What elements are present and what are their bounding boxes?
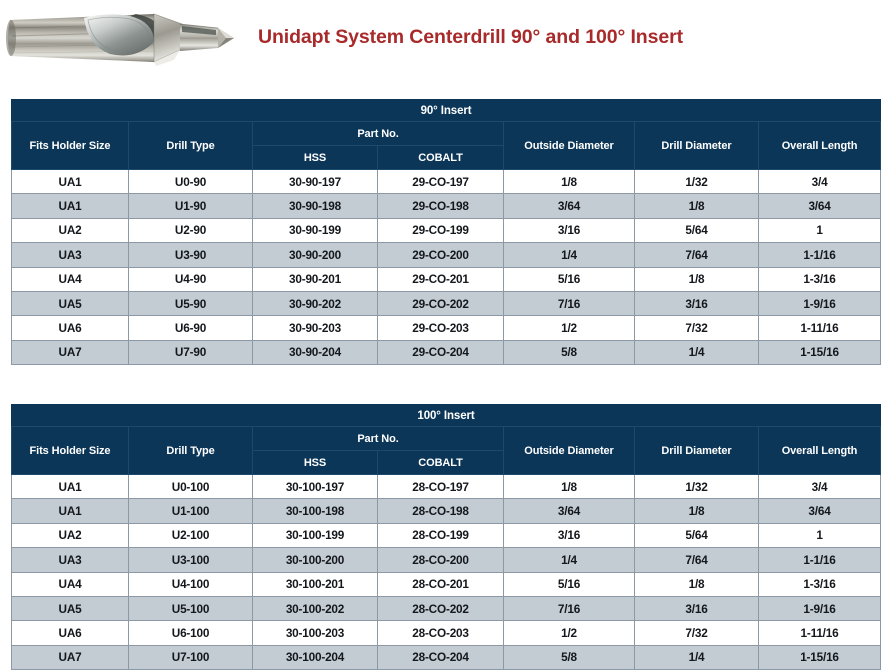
cell-hss: 30-90-200 [253, 243, 378, 267]
cell-outside-diameter: 1/8 [504, 475, 635, 499]
cell-drill-diameter: 5/64 [635, 523, 759, 547]
table-title-insert-100: 100° Insert [12, 405, 881, 427]
column-header-cobalt: COBALT [378, 451, 504, 475]
page-title: Unidapt System Centerdrill 90° and 100° … [258, 26, 683, 49]
cell-outside-diameter: 3/64 [504, 194, 635, 218]
table-row: UA2 U2-90 30-90-199 29-CO-199 3/16 5/64 … [12, 218, 881, 242]
cell-drill-diameter: 1/8 [635, 572, 759, 596]
spec-table-insert-90: 90° Insert Fits Holder Size Drill Type P… [11, 99, 881, 365]
cell-fits-holder-size: UA2 [12, 523, 129, 547]
column-header-drill-type: Drill Type [129, 122, 253, 170]
column-header-cobalt: COBALT [378, 146, 504, 170]
table-group-header-row: Fits Holder Size Drill Type Part No. Out… [12, 122, 881, 146]
table-body-insert-100: UA1 U0-100 30-100-197 28-CO-197 1/8 1/32… [12, 475, 881, 670]
cell-drill-type: U3-90 [129, 243, 253, 267]
cell-overall-length: 1-11/16 [759, 621, 881, 645]
table-title-row: 90° Insert [12, 100, 881, 122]
cell-hss: 30-100-201 [253, 572, 378, 596]
cell-drill-diameter: 1/4 [635, 340, 759, 364]
cell-fits-holder-size: UA5 [12, 596, 129, 620]
cell-drill-type: U5-90 [129, 291, 253, 315]
cell-hss: 30-90-197 [253, 170, 378, 194]
column-header-fits-holder-size: Fits Holder Size [12, 427, 129, 475]
cell-cobalt: 29-CO-199 [378, 218, 504, 242]
column-header-hss: HSS [253, 146, 378, 170]
column-header-fits-holder-size: Fits Holder Size [12, 122, 129, 170]
cell-drill-type: U6-90 [129, 316, 253, 340]
cell-fits-holder-size: UA4 [12, 572, 129, 596]
cell-fits-holder-size: UA1 [12, 475, 129, 499]
cell-drill-type: U7-100 [129, 645, 253, 669]
cell-drill-diameter: 1/8 [635, 194, 759, 218]
cell-overall-length: 3/4 [759, 475, 881, 499]
cell-drill-diameter: 3/16 [635, 596, 759, 620]
cell-overall-length: 1 [759, 218, 881, 242]
cell-hss: 30-90-204 [253, 340, 378, 364]
cell-drill-type: U1-100 [129, 499, 253, 523]
cell-cobalt: 29-CO-202 [378, 291, 504, 315]
column-group-header-part-no: Part No. [253, 122, 504, 146]
table-group-header-row: Fits Holder Size Drill Type Part No. Out… [12, 427, 881, 451]
cell-fits-holder-size: UA4 [12, 267, 129, 291]
cell-drill-type: U4-90 [129, 267, 253, 291]
cell-outside-diameter: 5/16 [504, 572, 635, 596]
cell-drill-type: U7-90 [129, 340, 253, 364]
cell-drill-diameter: 1/32 [635, 170, 759, 194]
cell-overall-length: 3/4 [759, 170, 881, 194]
cell-overall-length: 3/64 [759, 499, 881, 523]
table-row: UA7 U7-90 30-90-204 29-CO-204 5/8 1/4 1-… [12, 340, 881, 364]
cell-fits-holder-size: UA1 [12, 194, 129, 218]
cell-hss: 30-90-203 [253, 316, 378, 340]
cell-overall-length: 3/64 [759, 194, 881, 218]
cell-drill-diameter: 1/32 [635, 475, 759, 499]
cell-hss: 30-90-202 [253, 291, 378, 315]
cell-overall-length: 1-1/16 [759, 243, 881, 267]
table-title-row: 100° Insert [12, 405, 881, 427]
cell-fits-holder-size: UA5 [12, 291, 129, 315]
table-row: UA6 U6-100 30-100-203 28-CO-203 1/2 7/32… [12, 621, 881, 645]
cell-fits-holder-size: UA7 [12, 340, 129, 364]
cell-drill-type: U0-90 [129, 170, 253, 194]
cell-cobalt: 29-CO-198 [378, 194, 504, 218]
table-row: UA5 U5-100 30-100-202 28-CO-202 7/16 3/1… [12, 596, 881, 620]
cell-fits-holder-size: UA1 [12, 499, 129, 523]
cell-drill-diameter: 1/8 [635, 267, 759, 291]
cell-drill-diameter: 7/64 [635, 243, 759, 267]
column-group-header-part-no: Part No. [253, 427, 504, 451]
cell-drill-type: U6-100 [129, 621, 253, 645]
column-header-hss: HSS [253, 451, 378, 475]
cell-outside-diameter: 7/16 [504, 596, 635, 620]
cell-cobalt: 29-CO-197 [378, 170, 504, 194]
cell-drill-type: U0-100 [129, 475, 253, 499]
cell-overall-length: 1-15/16 [759, 645, 881, 669]
cell-outside-diameter: 5/16 [504, 267, 635, 291]
cell-drill-diameter: 7/64 [635, 548, 759, 572]
page-header: Unidapt System Centerdrill 90° and 100° … [0, 0, 890, 88]
cell-fits-holder-size: UA1 [12, 170, 129, 194]
cell-fits-holder-size: UA6 [12, 316, 129, 340]
cell-hss: 30-100-197 [253, 475, 378, 499]
cell-hss: 30-100-198 [253, 499, 378, 523]
cell-overall-length: 1-3/16 [759, 267, 881, 291]
cell-fits-holder-size: UA7 [12, 645, 129, 669]
cell-overall-length: 1-3/16 [759, 572, 881, 596]
cell-outside-diameter: 1/4 [504, 243, 635, 267]
cell-drill-diameter: 5/64 [635, 218, 759, 242]
table-row: UA3 U3-100 30-100-200 28-CO-200 1/4 7/64… [12, 548, 881, 572]
table-row: UA7 U7-100 30-100-204 28-CO-204 5/8 1/4 … [12, 645, 881, 669]
cell-drill-type: U2-100 [129, 523, 253, 547]
column-header-drill-diameter: Drill Diameter [635, 122, 759, 170]
table-body-insert-90: UA1 U0-90 30-90-197 29-CO-197 1/8 1/32 3… [12, 170, 881, 365]
cell-hss: 30-90-198 [253, 194, 378, 218]
cell-hss: 30-100-202 [253, 596, 378, 620]
cell-cobalt: 28-CO-202 [378, 596, 504, 620]
cell-cobalt: 28-CO-197 [378, 475, 504, 499]
spec-table-insert-100: 100° Insert Fits Holder Size Drill Type … [11, 404, 881, 670]
cell-cobalt: 29-CO-203 [378, 316, 504, 340]
cell-hss: 30-90-199 [253, 218, 378, 242]
cell-cobalt: 28-CO-201 [378, 572, 504, 596]
cell-overall-length: 1-9/16 [759, 291, 881, 315]
table-row: UA4 U4-100 30-100-201 28-CO-201 5/16 1/8… [12, 572, 881, 596]
cell-fits-holder-size: UA2 [12, 218, 129, 242]
cell-drill-type: U1-90 [129, 194, 253, 218]
cell-outside-diameter: 1/8 [504, 170, 635, 194]
column-header-overall-length: Overall Length [759, 427, 881, 475]
table-row: UA6 U6-90 30-90-203 29-CO-203 1/2 7/32 1… [12, 316, 881, 340]
cell-overall-length: 1-1/16 [759, 548, 881, 572]
cell-drill-diameter: 7/32 [635, 316, 759, 340]
cell-drill-type: U3-100 [129, 548, 253, 572]
cell-overall-length: 1-9/16 [759, 596, 881, 620]
cell-drill-diameter: 1/4 [635, 645, 759, 669]
table-row: UA1 U1-90 30-90-198 29-CO-198 3/64 1/8 3… [12, 194, 881, 218]
cell-outside-diameter: 1/4 [504, 548, 635, 572]
cell-outside-diameter: 5/8 [504, 645, 635, 669]
cell-outside-diameter: 1/2 [504, 621, 635, 645]
centerdrill-product-photo [4, 4, 236, 72]
cell-cobalt: 28-CO-200 [378, 548, 504, 572]
cell-cobalt: 29-CO-201 [378, 267, 504, 291]
cell-outside-diameter: 3/64 [504, 499, 635, 523]
cell-hss: 30-90-201 [253, 267, 378, 291]
cell-hss: 30-100-204 [253, 645, 378, 669]
cell-drill-diameter: 3/16 [635, 291, 759, 315]
cell-overall-length: 1 [759, 523, 881, 547]
column-header-drill-diameter: Drill Diameter [635, 427, 759, 475]
cell-cobalt: 29-CO-200 [378, 243, 504, 267]
table-row: UA1 U1-100 30-100-198 28-CO-198 3/64 1/8… [12, 499, 881, 523]
table-row: UA2 U2-100 30-100-199 28-CO-199 3/16 5/6… [12, 523, 881, 547]
cell-drill-diameter: 7/32 [635, 621, 759, 645]
column-header-overall-length: Overall Length [759, 122, 881, 170]
cell-fits-holder-size: UA6 [12, 621, 129, 645]
cell-outside-diameter: 7/16 [504, 291, 635, 315]
cell-cobalt: 28-CO-203 [378, 621, 504, 645]
cell-drill-type: U5-100 [129, 596, 253, 620]
cell-outside-diameter: 3/16 [504, 218, 635, 242]
column-header-drill-type: Drill Type [129, 427, 253, 475]
cell-cobalt: 28-CO-199 [378, 523, 504, 547]
table-title-insert-90: 90° Insert [12, 100, 881, 122]
table-row: UA4 U4-90 30-90-201 29-CO-201 5/16 1/8 1… [12, 267, 881, 291]
cell-overall-length: 1-11/16 [759, 316, 881, 340]
cell-cobalt: 28-CO-204 [378, 645, 504, 669]
cell-cobalt: 28-CO-198 [378, 499, 504, 523]
cell-drill-type: U2-90 [129, 218, 253, 242]
table-row: UA5 U5-90 30-90-202 29-CO-202 7/16 3/16 … [12, 291, 881, 315]
cell-hss: 30-100-203 [253, 621, 378, 645]
cell-drill-diameter: 1/8 [635, 499, 759, 523]
table-row: UA1 U0-90 30-90-197 29-CO-197 1/8 1/32 3… [12, 170, 881, 194]
table-row: UA1 U0-100 30-100-197 28-CO-197 1/8 1/32… [12, 475, 881, 499]
column-header-outside-diameter: Outside Diameter [504, 122, 635, 170]
cell-hss: 30-100-199 [253, 523, 378, 547]
table-row: UA3 U3-90 30-90-200 29-CO-200 1/4 7/64 1… [12, 243, 881, 267]
cell-outside-diameter: 3/16 [504, 523, 635, 547]
column-header-outside-diameter: Outside Diameter [504, 427, 635, 475]
cell-fits-holder-size: UA3 [12, 243, 129, 267]
cell-fits-holder-size: UA3 [12, 548, 129, 572]
cell-hss: 30-100-200 [253, 548, 378, 572]
cell-overall-length: 1-15/16 [759, 340, 881, 364]
cell-outside-diameter: 5/8 [504, 340, 635, 364]
cell-drill-type: U4-100 [129, 572, 253, 596]
cell-cobalt: 29-CO-204 [378, 340, 504, 364]
cell-outside-diameter: 1/2 [504, 316, 635, 340]
